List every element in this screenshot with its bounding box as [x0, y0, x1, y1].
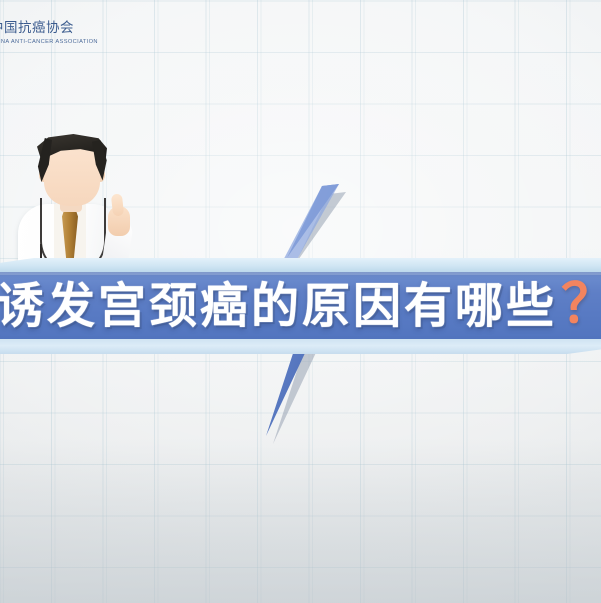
- thumbs-up-icon: [111, 193, 124, 216]
- banner-question-mark: ？: [561, 277, 601, 331]
- title-banner: 诱发宫颈癌的原因有哪些 ？: [0, 258, 601, 354]
- association-logo-name-en: CHINA ANTI-CANCER ASSOCIATION: [0, 40, 133, 46]
- association-logo-name-cn: 中国抗癌协会: [0, 22, 130, 36]
- banner-title: 诱发宫颈癌的原因有哪些: [0, 282, 557, 330]
- banner-bottom-strip: [0, 339, 601, 354]
- banner-text-row: 诱发宫颈癌的原因有哪些 ？: [0, 272, 601, 340]
- association-logo: 中国抗癌协会 CHINA ANTI-CANCER ASSOCIATION: [0, 22, 130, 45]
- video-frame: 中国抗癌协会 CHINA ANTI-CANCER ASSOCIATION: [0, 0, 601, 603]
- background-bottom-shade: [0, 438, 601, 603]
- banner-top-strip: [0, 258, 601, 273]
